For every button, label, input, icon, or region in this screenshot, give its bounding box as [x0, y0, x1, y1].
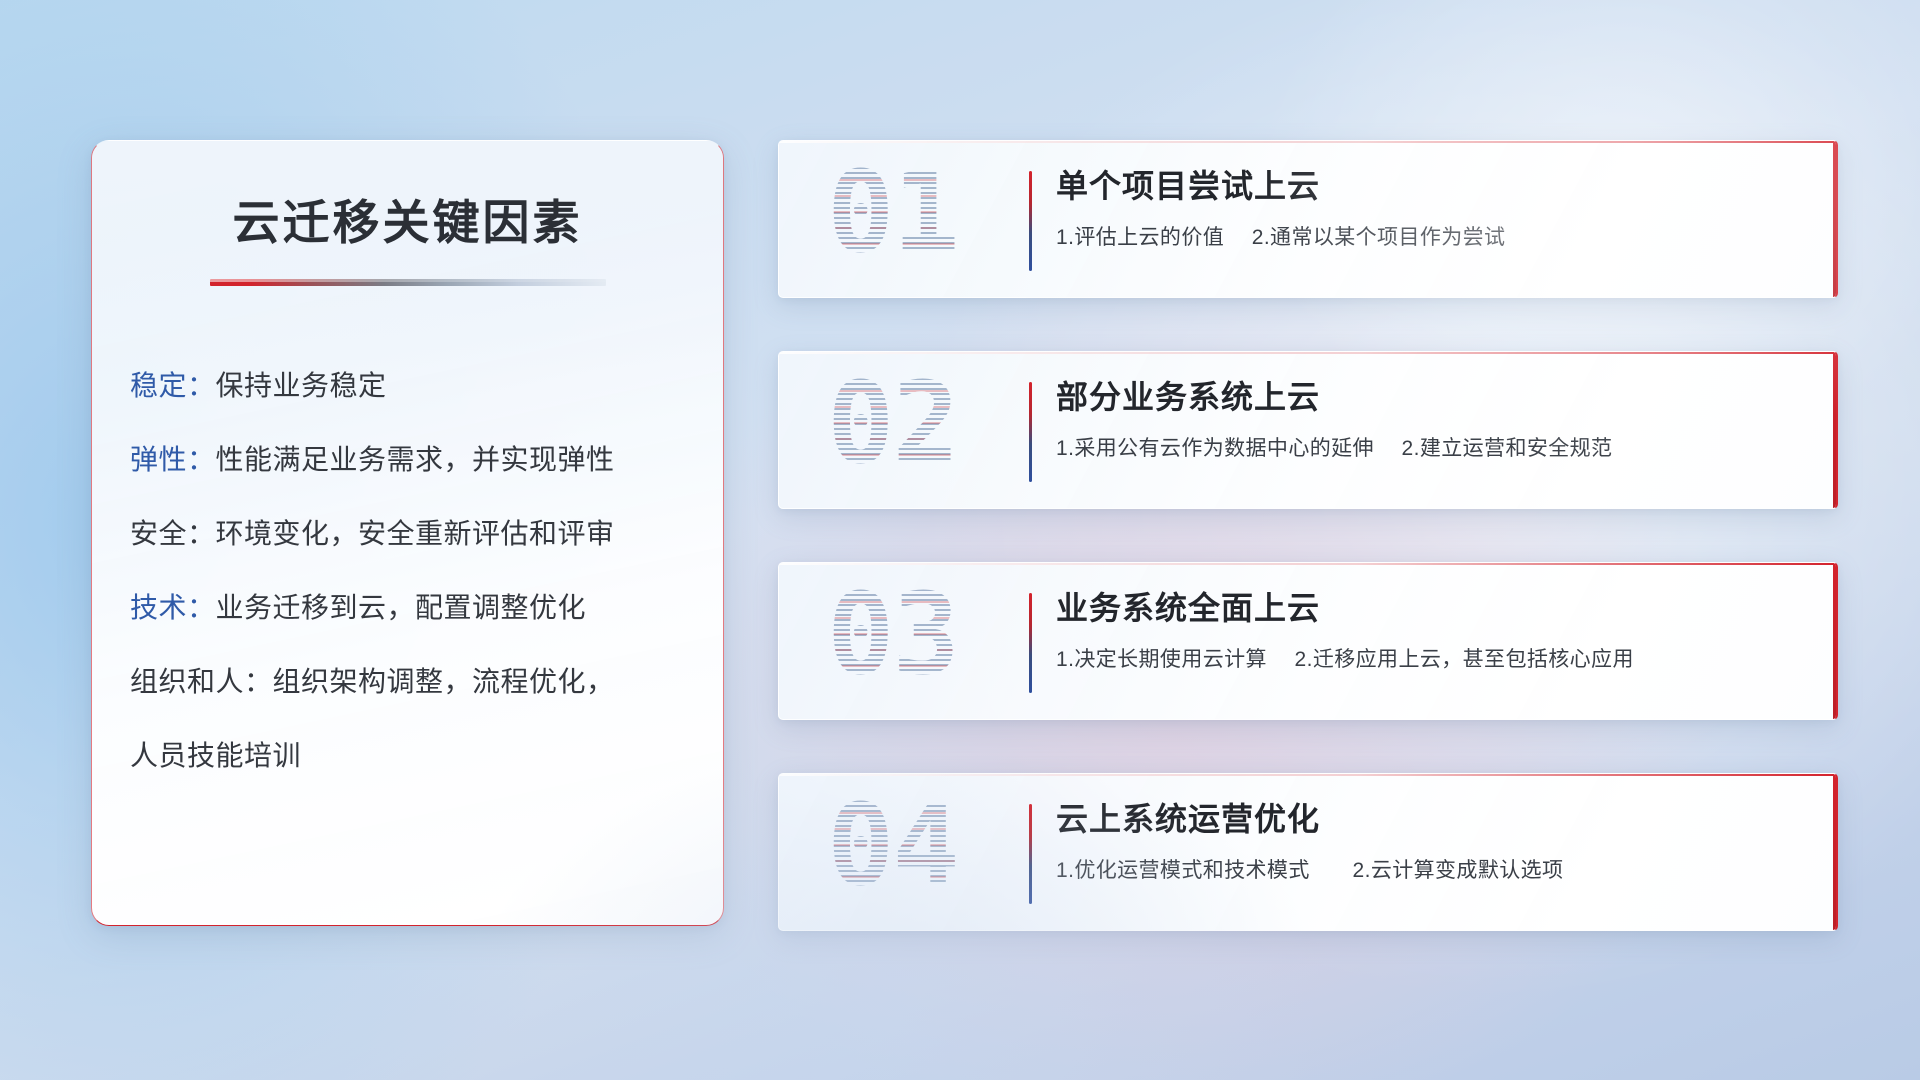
stage-title-03: 业务系统全面上云: [1056, 589, 1806, 627]
factor-text-stability: 保持业务稳定: [216, 370, 387, 401]
accent-bar-icon: [1029, 171, 1032, 271]
stage-card-01[interactable]: 01 01 单个项目尝试上云 1.评估上云的价值 2.通常以某个项目作为尝试: [778, 140, 1838, 298]
factor-item-security: 安全：环境变化，安全重新评估和评审: [130, 520, 690, 548]
migration-stage-card-list: 01 01 单个项目尝试上云 1.评估上云的价值 2.通常以某个项目作为尝试 0…: [778, 140, 1838, 931]
factor-text-elasticity: 性能满足业务需求，并实现弹性: [216, 444, 615, 475]
stage-desc-03: 1.决定长期使用云计算 2.迁移应用上云，甚至包括核心应用: [1056, 643, 1806, 673]
stage-card-body: 云上系统运营优化 1.优化运营模式和技术模式 2.云计算变成默认选项: [1056, 800, 1806, 884]
factor-item-organization: 组织和人：组织架构调整，流程优化，: [130, 668, 690, 696]
stage-desc-04: 1.优化运营模式和技术模式 2.云计算变成默认选项: [1056, 854, 1806, 884]
stage-title-01: 单个项目尝试上云: [1056, 167, 1806, 205]
stage-card-03[interactable]: 03 03 业务系统全面上云 1.决定长期使用云计算 2.迁移应用上云，甚至包括…: [778, 562, 1838, 720]
stage-number-glyph-tint: 04: [827, 794, 1007, 912]
accent-bar-icon: [1029, 593, 1032, 693]
stage-desc-01: 1.评估上云的价值 2.通常以某个项目作为尝试: [1056, 221, 1806, 251]
factor-label-organization: 组织和人：: [130, 666, 273, 697]
title-underline-rule: [210, 279, 606, 286]
accent-bar-icon: [1029, 804, 1032, 904]
stage-number-glyph-tint: 01: [827, 161, 1007, 279]
stage-card-body: 业务系统全面上云 1.决定长期使用云计算 2.迁移应用上云，甚至包括核心应用: [1056, 589, 1806, 673]
accent-bar-icon: [1029, 382, 1032, 482]
stage-number-01: 01 01: [827, 161, 1007, 279]
factor-text-technology: 业务迁移到云，配置调整优化: [216, 592, 587, 623]
factor-item-elasticity: 弹性：性能满足业务需求，并实现弹性: [130, 446, 690, 474]
factor-label-technology: 技术：: [130, 592, 216, 623]
stage-title-02: 部分业务系统上云: [1056, 378, 1806, 416]
stage-desc-02: 1.采用公有云作为数据中心的延伸 2.建立运营和安全规范: [1056, 432, 1806, 462]
factor-label-security: 安全：: [130, 518, 216, 549]
stage-card-body: 单个项目尝试上云 1.评估上云的价值 2.通常以某个项目作为尝试: [1056, 167, 1806, 251]
factor-item-stability: 稳定：保持业务稳定: [130, 372, 690, 400]
factor-text-organization-continued: 人员技能培训: [130, 734, 690, 774]
stage-number-glyph-tint: 03: [827, 583, 1007, 701]
page-title: 云迁移关键因素: [92, 184, 723, 253]
key-factors-panel: 云迁移关键因素 稳定：保持业务稳定 弹性：性能满足业务需求，并实现弹性 安全：环…: [91, 140, 724, 926]
stage-card-02[interactable]: 02 02 部分业务系统上云 1.采用公有云作为数据中心的延伸 2.建立运营和安…: [778, 351, 1838, 509]
stage-number-03: 03 03: [827, 583, 1007, 701]
factor-text-security: 环境变化，安全重新评估和评审: [216, 518, 615, 549]
factor-label-stability: 稳定：: [130, 370, 216, 401]
stage-card-04[interactable]: 04 04 云上系统运营优化 1.优化运营模式和技术模式 2.云计算变成默认选项: [778, 773, 1838, 931]
factor-item-technology: 技术：业务迁移到云，配置调整优化: [130, 594, 690, 622]
factor-label-elasticity: 弹性：: [130, 444, 216, 475]
factor-text-organization: 组织架构调整，流程优化，: [273, 666, 615, 697]
stage-number-04: 04 04: [827, 794, 1007, 912]
stage-title-04: 云上系统运营优化: [1056, 800, 1806, 838]
factor-list: 稳定：保持业务稳定 弹性：性能满足业务需求，并实现弹性 安全：环境变化，安全重新…: [130, 372, 690, 774]
slide-canvas: 云迁移关键因素 稳定：保持业务稳定 弹性：性能满足业务需求，并实现弹性 安全：环…: [0, 0, 1920, 1080]
stage-card-body: 部分业务系统上云 1.采用公有云作为数据中心的延伸 2.建立运营和安全规范: [1056, 378, 1806, 462]
stage-number-02: 02 02: [827, 372, 1007, 490]
stage-number-glyph-tint: 02: [827, 372, 1007, 490]
